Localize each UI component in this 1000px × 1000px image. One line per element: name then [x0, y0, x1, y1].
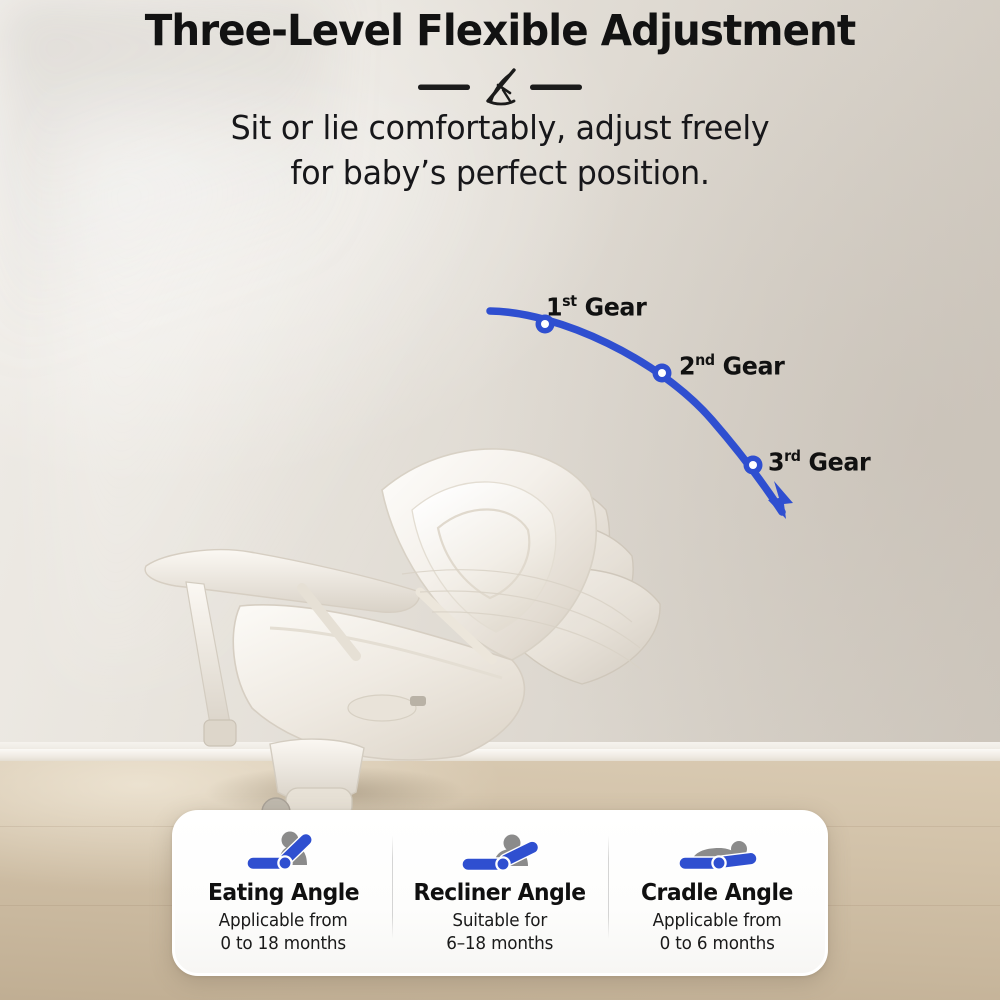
- eating-sub-line-2: 0 to 18 months: [219, 933, 348, 956]
- feature-title-recliner-angle: Recliner Angle: [414, 880, 586, 906]
- gear-1-text: Gear: [577, 292, 647, 321]
- gear-node-2-center: [658, 369, 666, 377]
- angle-feature-card: Eating Angle Applicable from 0 to 18 mon…: [172, 810, 828, 976]
- gear-2-suffix: nd: [695, 351, 715, 369]
- gear-label-3: 3rd Gear: [768, 447, 870, 476]
- feature-sub-eating-angle: Applicable from 0 to 18 months: [219, 910, 348, 956]
- gear-2-text: Gear: [715, 351, 785, 380]
- gear-label-2: 2nd Gear: [679, 351, 784, 380]
- recline-eating-angle-icon: [235, 827, 331, 875]
- feature-title-cradle-angle: Cradle Angle: [641, 880, 793, 906]
- gear-3-suffix: rd: [784, 447, 800, 465]
- recline-cradle-angle-icon: [669, 827, 765, 875]
- gear-1-suffix: st: [562, 292, 577, 310]
- gear-2-ordinal: 2: [679, 351, 695, 380]
- gear-3-text: Gear: [801, 447, 871, 476]
- feature-sub-cradle-angle: Applicable from 0 to 6 months: [652, 910, 781, 956]
- gear-arc-path: [490, 311, 782, 512]
- cradle-sub-line-1: Applicable from: [652, 910, 781, 933]
- feature-column-eating-angle[interactable]: Eating Angle Applicable from 0 to 18 mon…: [175, 813, 392, 973]
- infographic-canvas: Three-Level Flexible Adjustment Sit or l…: [0, 0, 1000, 1000]
- gear-label-1: 1st Gear: [546, 292, 646, 321]
- recliner-sub-line-1: Suitable for: [447, 910, 554, 933]
- cradle-sub-line-2: 0 to 6 months: [652, 933, 781, 956]
- feature-column-recliner-angle[interactable]: Recliner Angle Suitable for 6–18 months: [392, 813, 609, 973]
- recliner-sub-line-2: 6–18 months: [447, 933, 554, 956]
- feature-title-eating-angle: Eating Angle: [208, 880, 359, 906]
- feature-sub-recliner-angle: Suitable for 6–18 months: [447, 910, 554, 956]
- feature-column-cradle-angle[interactable]: Cradle Angle Applicable from 0 to 6 mont…: [608, 813, 825, 973]
- gear-3-ordinal: 3: [768, 447, 784, 476]
- gear-1-ordinal: 1: [546, 292, 562, 321]
- recline-recliner-angle-icon: [452, 827, 548, 875]
- eating-sub-line-1: Applicable from: [219, 910, 348, 933]
- gear-node-3-center: [749, 461, 757, 469]
